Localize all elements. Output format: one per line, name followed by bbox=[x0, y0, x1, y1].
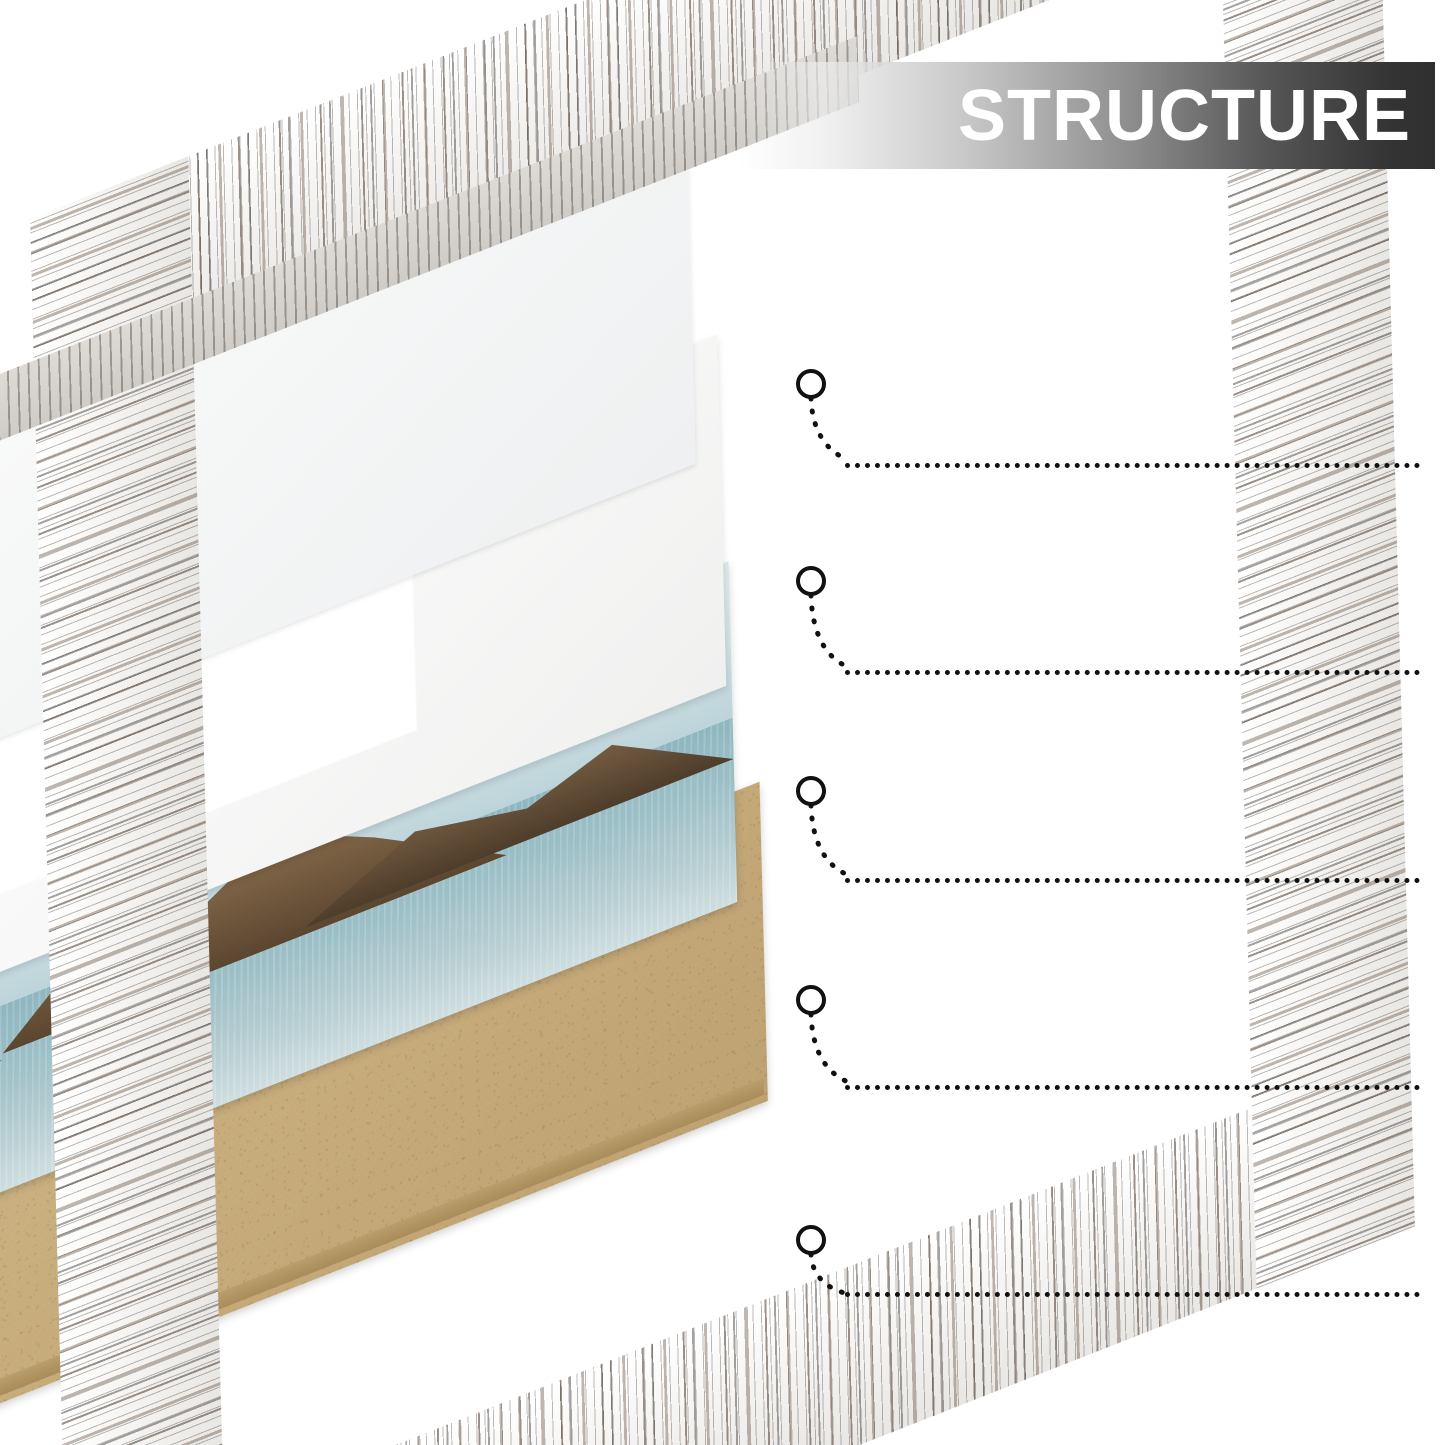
marker-dot-icon[interactable] bbox=[796, 776, 826, 806]
leader-line bbox=[806, 595, 866, 677]
frame-rail-bottom bbox=[66, 1045, 1415, 1445]
banner-title: STRUCTURE bbox=[958, 80, 1435, 152]
layer-wooden-frame bbox=[0, 0, 1390, 1130]
structure-banner: STRUCTURE bbox=[740, 62, 1435, 169]
callout-rule bbox=[845, 878, 1420, 883]
marker-dot-icon[interactable] bbox=[796, 985, 826, 1015]
exploded-layer-stack bbox=[0, 0, 1445, 1445]
leader-line bbox=[806, 1014, 866, 1092]
marker-dot-icon[interactable] bbox=[796, 1225, 826, 1255]
marker-dot-icon[interactable] bbox=[796, 566, 826, 596]
callout-rule bbox=[845, 1085, 1420, 1090]
callout-rule bbox=[845, 463, 1420, 468]
marker-dot-icon[interactable] bbox=[796, 369, 826, 399]
structure-infographic: STRUCTURE Wooden Frame Plexiglass bbox=[0, 0, 1445, 1445]
leader-line bbox=[806, 398, 866, 470]
leader-line bbox=[806, 805, 866, 885]
callout-rule bbox=[845, 670, 1420, 675]
frame-outer-body bbox=[30, 0, 1415, 1445]
callout-rule bbox=[845, 1292, 1420, 1297]
frame-rail-right bbox=[1216, 0, 1414, 1289]
